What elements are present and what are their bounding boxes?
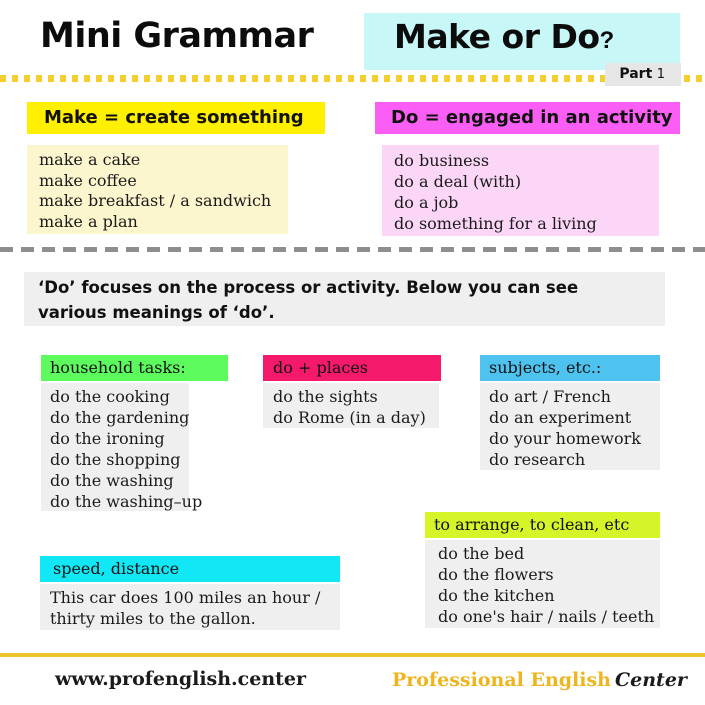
category-list-places: do the sights do Rome (in a day)	[263, 383, 439, 428]
list-item: make a plan	[39, 212, 288, 233]
list-item: do an experiment	[489, 407, 660, 428]
list-item: do the gardening	[50, 407, 189, 428]
list-item: make breakfast / a sandwich	[39, 191, 288, 212]
list-item: do something for a living	[394, 213, 659, 234]
make-examples-list: make a cake make coffee make breakfast /…	[27, 145, 288, 234]
list-item: do Rome (in a day)	[273, 407, 439, 428]
brand-name-secondary: Center	[615, 669, 687, 691]
list-item: thirty miles to the gallon.	[50, 608, 340, 629]
part-badge: Part 1	[605, 63, 681, 86]
page-title-topic: Make or Do?	[394, 17, 614, 56]
list-item: This car does 100 miles an hour /	[50, 587, 340, 608]
part-badge-label: Part	[619, 66, 652, 82]
category-list-subjects: do art / French do an experiment do your…	[480, 383, 660, 470]
list-item: do the ironing	[50, 428, 189, 449]
topic-question-mark: ?	[600, 27, 614, 54]
note-line-2: various meanings of ‘do’.	[38, 300, 665, 325]
list-item: do one's hair / nails / teeth	[438, 606, 660, 627]
list-item: do the washing–up	[50, 491, 189, 512]
do-explanation-note: ‘Do’ focuses on the process or activity.…	[24, 272, 665, 326]
dotted-divider-rule	[0, 75, 705, 82]
list-item: do the flowers	[438, 564, 660, 585]
footer-brand-logo: Professional EnglishCenter	[392, 669, 687, 691]
list-item: do the cooking	[50, 386, 189, 407]
list-item: do business	[394, 150, 659, 171]
do-examples-list: do business do a deal (with) do a job do…	[382, 145, 659, 236]
topic-title-text: Make or Do	[394, 17, 600, 56]
footer-divider-rule	[0, 653, 705, 657]
list-item: do the sights	[273, 386, 439, 407]
list-item: make coffee	[39, 171, 288, 192]
brand-name-primary: Professional English	[392, 669, 611, 691]
list-item: do the bed	[438, 543, 660, 564]
list-item: do research	[489, 449, 660, 470]
part-badge-number: 1	[657, 67, 665, 82]
category-list-speed: This car does 100 miles an hour / thirty…	[40, 584, 340, 630]
category-heading-places: do + places	[263, 355, 441, 381]
list-item: make a cake	[39, 150, 288, 171]
page-header: Mini Grammar Make or Do? Part 1	[0, 0, 705, 95]
list-item: do the washing	[50, 470, 189, 491]
note-line-1: ‘Do’ focuses on the process or activity.…	[38, 275, 665, 300]
dashed-divider-rule	[0, 247, 705, 252]
category-heading-arrange: to arrange, to clean, etc	[425, 512, 660, 538]
category-heading-speed: speed, distance	[40, 556, 340, 582]
footer-website-url[interactable]: www.profenglish.center	[55, 668, 306, 690]
category-list-arrange: do the bed do the flowers do the kitchen…	[425, 540, 660, 628]
make-section-heading: Make = create something	[27, 102, 325, 134]
list-item: do a deal (with)	[394, 171, 659, 192]
list-item: do the shopping	[50, 449, 189, 470]
category-heading-household: household tasks:	[41, 355, 228, 381]
list-item: do a job	[394, 192, 659, 213]
page-title-series: Mini Grammar	[40, 16, 313, 56]
list-item: do your homework	[489, 428, 660, 449]
list-item: do art / French	[489, 386, 660, 407]
category-heading-subjects: subjects, etc.:	[480, 355, 660, 381]
category-list-household: do the cooking do the gardening do the i…	[41, 383, 189, 511]
list-item: do the kitchen	[438, 585, 660, 606]
do-section-heading: Do = engaged in an activity	[375, 102, 680, 134]
